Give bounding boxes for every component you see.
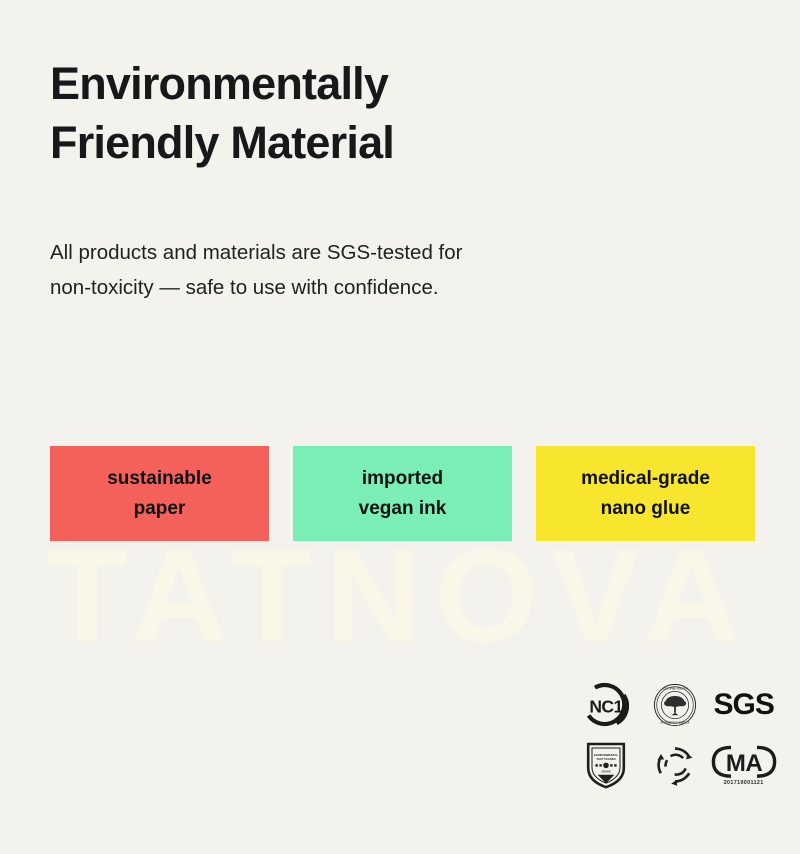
- material-chip-group: sustainable paper imported vegan ink med…: [50, 446, 755, 541]
- shield-badge-icon: ENVIRONMENTAL TEST PASSED GRADE: [585, 740, 627, 790]
- cert-badge-forestry-seal: CERTIFIED FOREST SUSTAINABLE SOURCE: [641, 676, 710, 734]
- cert-badge-cma: MA 201719001121: [709, 734, 778, 796]
- cert-badge-recycling: [641, 734, 710, 796]
- cma-oval-mark-icon: MA: [711, 745, 777, 779]
- svg-text:SUSTAINABLE SOURCE: SUSTAINABLE SOURCE: [660, 722, 689, 725]
- chip-label-line-2: nano glue: [601, 494, 691, 523]
- chip-label-line-2: vegan ink: [359, 494, 447, 523]
- page-title-line-1: Environmentally: [50, 54, 570, 113]
- main-content: Environmentally Friendly Material All pr…: [0, 54, 800, 305]
- svg-text:CERTIFIED FOREST: CERTIFIED FOREST: [663, 687, 688, 690]
- page-title-line-2: Friendly Material: [50, 113, 570, 172]
- chip-label-line-1: imported: [362, 464, 443, 493]
- brand-watermark: TATNOVA: [0, 530, 800, 662]
- certification-logo-grid: NC1 CERTIFIED FOREST SUSTAINABLE SOUR: [572, 676, 778, 796]
- recycling-arrows-icon: [652, 742, 698, 788]
- chip-label-line-2: paper: [134, 494, 186, 523]
- cma-certificate-number: 201719001121: [724, 780, 764, 786]
- page-subtitle-line-2: non-toxicity — safe to use with confiden…: [50, 270, 630, 305]
- cert-badge-shield: ENVIRONMENTAL TEST PASSED GRADE: [572, 734, 641, 796]
- nc1-circle-mark-icon: NC1: [583, 682, 629, 728]
- forestry-tree-seal-icon: CERTIFIED FOREST SUSTAINABLE SOURCE: [652, 682, 698, 728]
- chip-label-line-1: medical-grade: [581, 464, 710, 493]
- svg-text:MA: MA: [725, 750, 761, 777]
- svg-text:TEST PASSED: TEST PASSED: [597, 757, 616, 761]
- chip-label-line-1: sustainable: [107, 464, 212, 493]
- cert-badge-nc1: NC1: [572, 676, 641, 734]
- page-subtitle: All products and materials are SGS-teste…: [50, 235, 630, 306]
- page-subtitle-line-1: All products and materials are SGS-teste…: [50, 235, 630, 270]
- svg-text:NC1: NC1: [590, 696, 624, 716]
- page-title: Environmentally Friendly Material: [50, 54, 570, 173]
- material-chip-medical-grade-nano-glue: medical-grade nano glue: [536, 446, 755, 541]
- sgs-wordmark-icon: SGS: [713, 690, 773, 720]
- svg-text:GRADE: GRADE: [602, 769, 612, 773]
- material-chip-sustainable-paper: sustainable paper: [50, 446, 269, 541]
- cert-badge-sgs: SGS: [709, 676, 778, 734]
- material-chip-imported-vegan-ink: imported vegan ink: [293, 446, 512, 541]
